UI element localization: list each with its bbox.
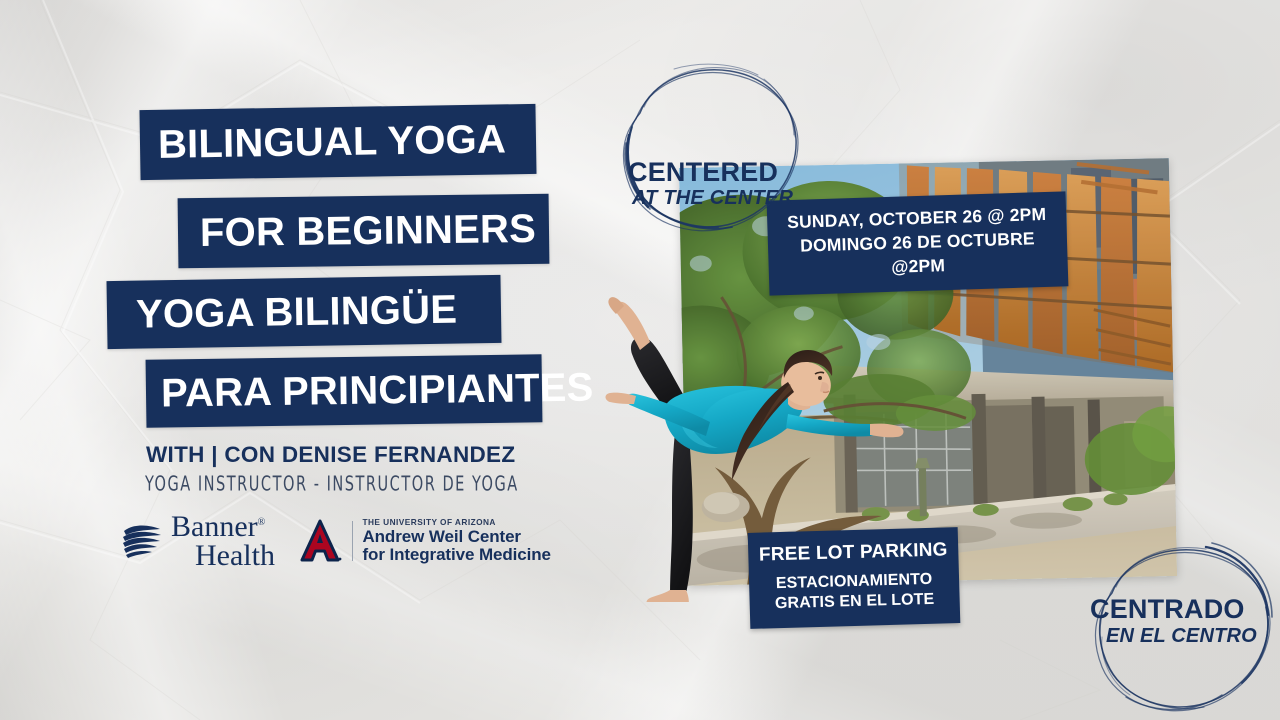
parking-line-es-1: ESTACIONAMIENTO bbox=[776, 571, 933, 592]
headline-text-3: YOGA BILINGÜE bbox=[136, 287, 458, 337]
sponsor-logos: Banner® Health THE UNIVERSITY OF ARIZONA… bbox=[120, 512, 551, 571]
scribble-circle-icon bbox=[614, 57, 809, 247]
centrado-badge-line-2: EN EL CENTRO bbox=[1106, 625, 1257, 648]
weil-line-1: Andrew Weil Center bbox=[362, 528, 550, 546]
banner-registered: ® bbox=[258, 517, 266, 528]
banner-health-logo: Banner® Health bbox=[120, 512, 275, 571]
banner-line-1: Banner bbox=[171, 510, 258, 543]
banner-wave-icon bbox=[120, 521, 164, 561]
headline-bar-3: YOGA BILINGÜE bbox=[106, 275, 501, 349]
parking-box: FREE LOT PARKING ESTACIONAMIENTO GRATIS … bbox=[748, 527, 961, 629]
centrado-badge-line-1: CENTRADO bbox=[1090, 594, 1245, 625]
headline-bar-1: BILINGUAL YOGA bbox=[139, 104, 536, 180]
headline-text-4: PARA PRINCIPIANTES bbox=[161, 365, 594, 416]
headline-bar-4: PARA PRINCIPIANTES bbox=[146, 354, 543, 428]
weil-center-wordmark: THE UNIVERSITY OF ARIZONA Andrew Weil Ce… bbox=[362, 518, 550, 564]
centered-badge-line-1: CENTERED bbox=[628, 157, 778, 188]
parking-line-es-2: GRATIS EN EL LOTE bbox=[775, 591, 935, 612]
logo-divider bbox=[352, 521, 354, 561]
instructor-name: WITH | CON DENISE FERNANDEZ bbox=[146, 442, 515, 468]
parking-line-en: FREE LOT PARKING bbox=[756, 539, 951, 566]
centered-badge-es: CENTRADO EN EL CENTRO bbox=[1086, 537, 1280, 720]
instructor-role: YOGA INSTRUCTOR - INSTRUCTOR DE YOGA bbox=[145, 472, 519, 496]
banner-line-2: Health bbox=[171, 541, 275, 570]
flyer-canvas: SUNDAY, OCTOBER 26 @ 2PM DOMINGO 26 DE O… bbox=[0, 0, 1280, 720]
arizona-weil-logo: THE UNIVERSITY OF ARIZONA Andrew Weil Ce… bbox=[297, 518, 551, 564]
date-time-box: SUNDAY, OCTOBER 26 @ 2PM DOMINGO 26 DE O… bbox=[767, 191, 1069, 296]
centered-badge-en: CENTERED AT THE CENTER bbox=[614, 57, 809, 247]
headline-text-1: BILINGUAL YOGA bbox=[158, 117, 507, 167]
headline-bar-2: FOR BEGINNERS bbox=[178, 194, 550, 269]
centered-badge-line-2: AT THE CENTER bbox=[632, 187, 793, 210]
arizona-block-a-icon bbox=[297, 518, 343, 564]
banner-health-wordmark: Banner® Health bbox=[171, 512, 275, 571]
weil-line-2: for Integrative Medicine bbox=[362, 546, 550, 564]
headline-text-2: FOR BEGINNERS bbox=[200, 206, 536, 255]
ua-eyebrow: THE UNIVERSITY OF ARIZONA bbox=[362, 518, 550, 527]
